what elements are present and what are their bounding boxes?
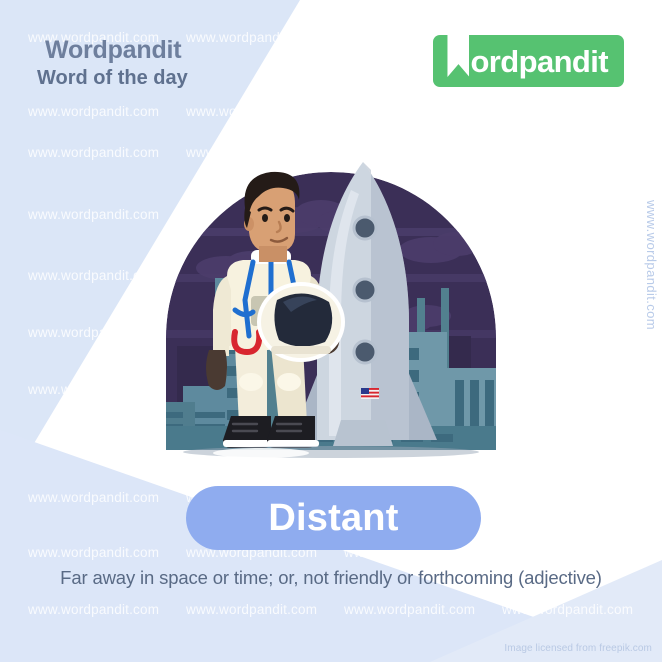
image-credit: Image licensed from freepik.com — [504, 643, 652, 654]
logo-label: ordpandit — [470, 46, 608, 77]
page-subtitle: Word of the day — [37, 66, 188, 90]
header-block: Wordpandit Word of the day — [45, 36, 188, 90]
word-definition: Far away in space or time; or, not frien… — [0, 567, 662, 589]
us-flag-icon — [361, 388, 379, 399]
helmet — [259, 284, 343, 360]
word-of-the-day-card: www.wordpandit.com www.wordpandit.com ww… — [0, 0, 662, 662]
wordpandit-logo[interactable]: ordpandit — [433, 35, 624, 87]
bookmark-icon — [445, 35, 471, 87]
illustration-astronaut-rocket — [131, 150, 531, 470]
page-title: Wordpandit — [45, 36, 188, 65]
word-label: Distant — [268, 497, 398, 540]
word-badge[interactable]: Distant — [186, 486, 481, 550]
